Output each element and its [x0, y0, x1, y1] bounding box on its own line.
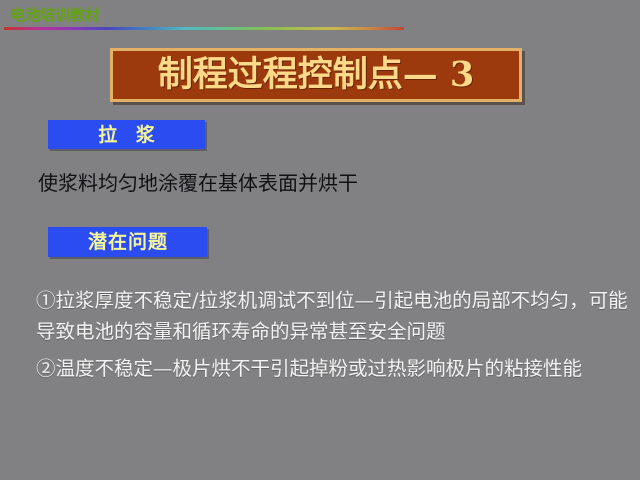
section-chip-problems-label: 潜在问题 [87, 232, 168, 252]
course-header-label: 电池培训教材 [10, 7, 100, 23]
section-chip-problems: 潜在问题 [48, 227, 207, 257]
problem-list-item: ①拉浆厚度不稳定/拉浆机调试不到位—引起电池的局部不均匀，可能导致电池的容量和循… [36, 285, 634, 347]
section-chip-process: 拉 浆 [48, 120, 205, 149]
problem-list-item: ②温度不稳定—极片烘不干引起掉粉或过热影响极片的粘接性能 [36, 353, 634, 384]
process-description-text: 使浆料均匀地涂覆在基体表面并烘干 [38, 170, 358, 196]
slide-title-text: 制程过程控制点— 3 [158, 56, 475, 94]
section-chip-process-label: 拉 浆 [92, 125, 161, 145]
rainbow-divider [4, 27, 404, 30]
slide-title-banner: 制程过程控制点— 3 [110, 48, 522, 102]
problem-list: ①拉浆厚度不稳定/拉浆机调试不到位—引起电池的局部不均匀，可能导致电池的容量和循… [36, 285, 634, 390]
slide-canvas: 电池培训教材 制程过程控制点— 3 拉 浆 使浆料均匀地涂覆在基体表面并烘干 潜… [0, 0, 640, 480]
